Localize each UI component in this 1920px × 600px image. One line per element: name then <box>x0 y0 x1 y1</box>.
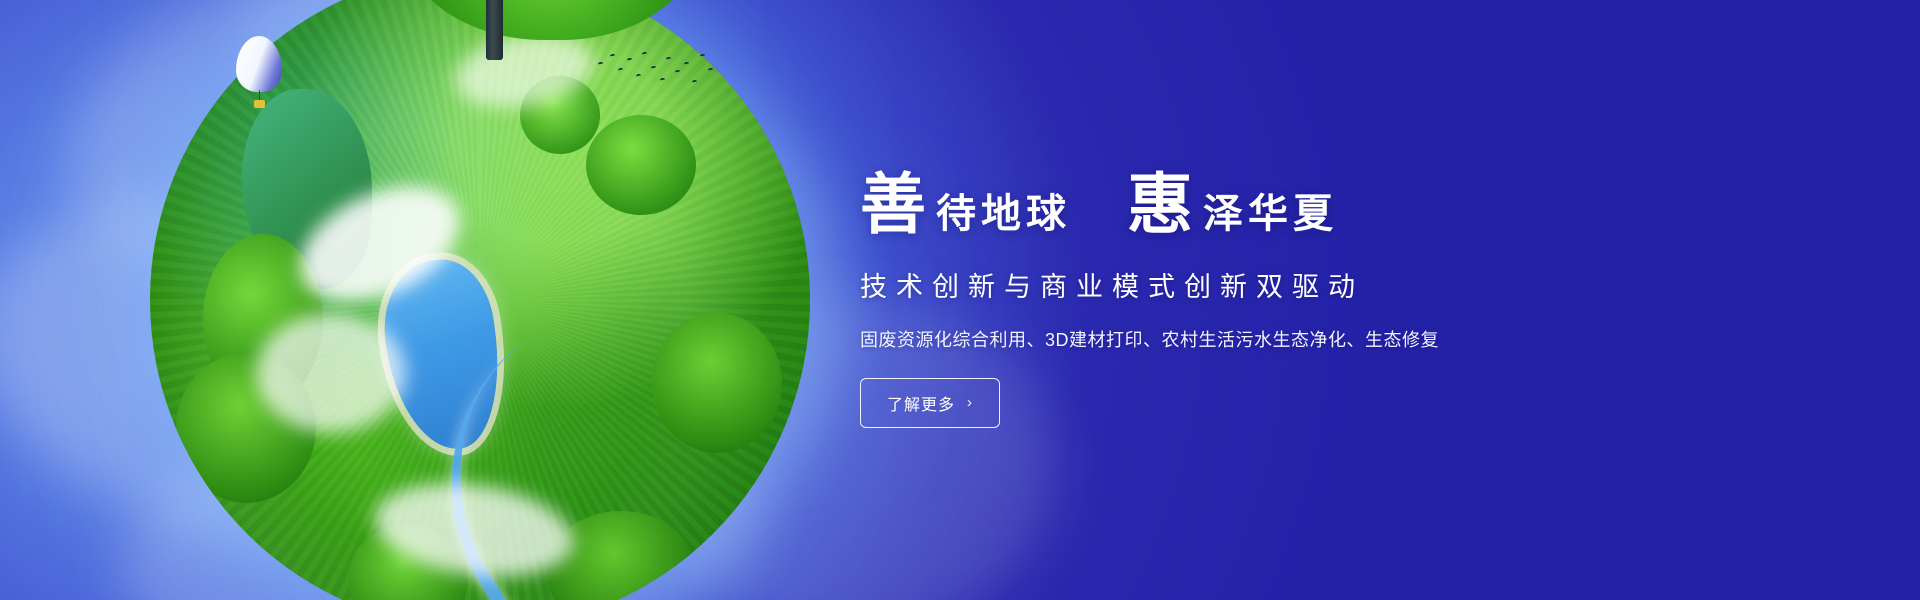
headline-text-1: 待地球 <box>936 194 1071 234</box>
headline-text-2: 泽华夏 <box>1203 194 1338 234</box>
tree-canopy <box>586 115 696 215</box>
balloon-basket <box>254 100 265 108</box>
balloon-envelope <box>236 36 282 92</box>
bird-flock-icon <box>596 48 716 92</box>
hero-banner: 善 待地球 惠 泽华夏 技术创新与商业模式创新双驱动 固废资源化综合利用、3D建… <box>0 0 1920 600</box>
tree-trunk <box>486 0 503 60</box>
headline-char-1: 善 <box>860 173 926 239</box>
page-description: 固废资源化综合利用、3D建材打印、农村生活污水生态净化、生态修复 <box>860 326 1439 352</box>
hero-content: 善 待地球 惠 泽华夏 技术创新与商业模式创新双驱动 固废资源化综合利用、3D建… <box>860 0 1860 600</box>
learn-more-button[interactable]: 了解更多 › <box>860 378 1000 428</box>
page-title: 善 待地球 惠 泽华夏 <box>860 173 1338 239</box>
learn-more-label: 了解更多 <box>887 391 955 415</box>
chevron-right-icon: › <box>967 395 973 410</box>
hot-air-balloon-icon <box>236 36 282 110</box>
page-subtitle: 技术创新与商业模式创新双驱动 <box>860 265 1364 304</box>
planet-cloud <box>256 313 406 433</box>
headline-char-2: 惠 <box>1127 173 1193 239</box>
